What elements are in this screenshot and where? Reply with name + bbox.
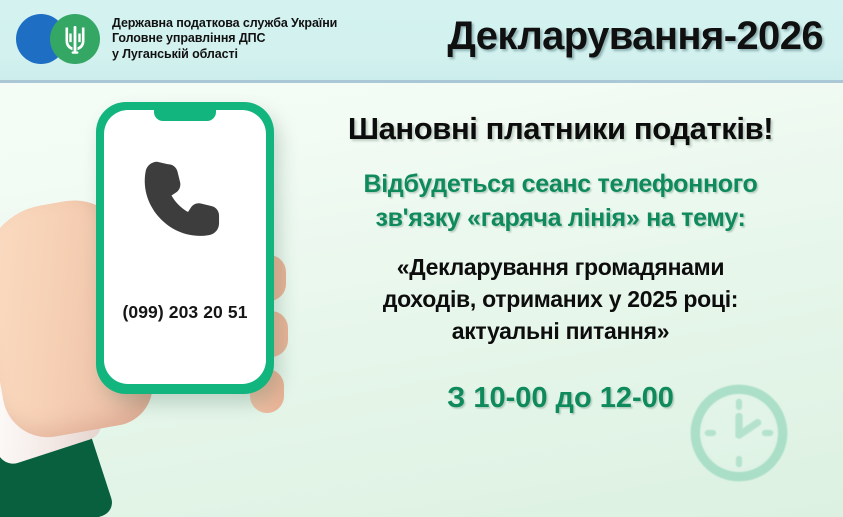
topic-text: «Декларування громадянами доходів, отрим… bbox=[278, 251, 843, 348]
topic-line-1: «Декларування громадянами bbox=[278, 251, 843, 283]
campaign-title: Декларування-2026 bbox=[447, 14, 823, 59]
agency-name-line-3: у Луганській області bbox=[112, 47, 337, 63]
phone-in-hand-illustration: (099) 203 20 51 bbox=[0, 83, 300, 517]
header-bar: Державна податкова служба України Головн… bbox=[0, 0, 843, 83]
agency-name-block: Державна податкова служба України Головн… bbox=[112, 16, 337, 63]
greeting-heading: Шановні платники податків! bbox=[278, 111, 843, 147]
phone-notch bbox=[154, 110, 216, 121]
phone-screen: (099) 203 20 51 bbox=[104, 110, 266, 384]
poster-canvas: Державна податкова служба України Головн… bbox=[0, 0, 843, 517]
announcement-text: Відбудеться сеанс телефонного зв'язку «г… bbox=[278, 167, 843, 235]
topic-line-2: доходів, отриманих у 2025 році: bbox=[278, 283, 843, 315]
agency-name-line-1: Державна податкова служба України bbox=[112, 16, 337, 32]
announcement-line-1: Відбудеться сеанс телефонного bbox=[278, 167, 843, 201]
hotline-phone-number: (099) 203 20 51 bbox=[104, 302, 266, 323]
topic-line-3: актуальні питання» bbox=[278, 315, 843, 347]
announcement-line-2: зв'язку «гаряча лінія» на тему: bbox=[278, 201, 843, 235]
smartphone-device: (099) 203 20 51 bbox=[96, 102, 274, 394]
phone-handset-icon bbox=[137, 152, 233, 248]
ukraine-tryzub-icon bbox=[50, 14, 100, 64]
agency-logo bbox=[16, 14, 100, 64]
agency-name-line-2: Головне управління ДПС bbox=[112, 31, 337, 47]
clock-icon bbox=[687, 381, 791, 485]
